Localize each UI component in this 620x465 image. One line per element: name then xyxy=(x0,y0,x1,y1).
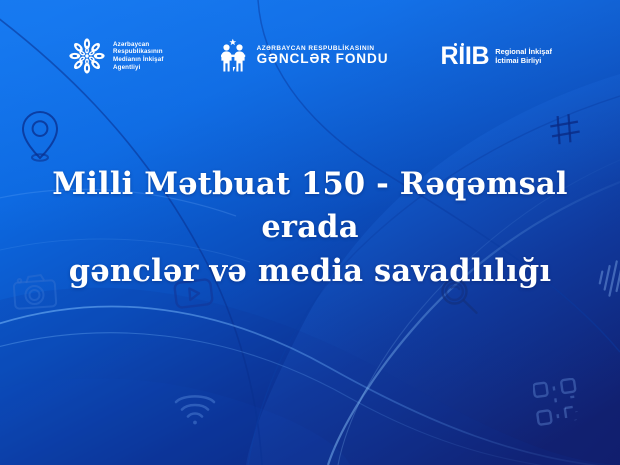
riib-umlaut-dots xyxy=(454,43,466,48)
headline-line-1: Milli Mətbuat 150 - Rəqəmsal erada xyxy=(0,163,620,250)
riib-sub-line-2: İctimai Birliyi xyxy=(495,56,552,65)
logo-line-3: Medianın İnkişaf xyxy=(113,56,164,64)
wifi-icon xyxy=(172,390,218,426)
logo-line-4: Agentliyi xyxy=(113,64,164,72)
two-figures-emblem-icon xyxy=(216,38,250,74)
logo-riib: RIIB Regional İnkişaf İctimai Birliyi xyxy=(440,44,552,69)
event-banner: Azərbaycan Respublikasının Medianın İnki… xyxy=(0,0,620,465)
hashtag-icon xyxy=(549,113,581,145)
logo-youth-foundation-bottom: GƏNCLƏR FONDU xyxy=(257,52,389,66)
logo-youth-foundation: AZƏRBAYCAN RESPUBLİKASININ GƏNCLƏR FONDU xyxy=(216,38,389,74)
logo-media-development-agency: Azərbaycan Respublikasının Medianın İnki… xyxy=(68,37,164,75)
logo-youth-foundation-text: AZƏRBAYCAN RESPUBLİKASININ GƏNCLƏR FONDU xyxy=(257,45,389,66)
location-pin-icon xyxy=(18,110,62,164)
rosette-emblem-icon xyxy=(68,37,106,75)
headline-line-2: gənclər və media savadlılığı xyxy=(0,250,620,293)
logo-media-agency-text: Azərbaycan Respublikasının Medianın İnki… xyxy=(113,41,164,71)
qr-code-icon xyxy=(533,378,583,428)
riib-wordmark: RIIB xyxy=(440,44,489,69)
logo-line-2: Respublikasının xyxy=(113,48,164,56)
riib-sub-line-1: Regional İnkişaf xyxy=(495,47,552,56)
logo-bar: Azərbaycan Respublikasının Medianın İnki… xyxy=(0,31,620,81)
logo-line-1: Azərbaycan xyxy=(113,41,164,49)
logo-riib-subtext: Regional İnkişaf İctimai Birliyi xyxy=(495,47,552,66)
headline: Milli Mətbuat 150 - Rəqəmsal erada gəncl… xyxy=(0,163,620,293)
